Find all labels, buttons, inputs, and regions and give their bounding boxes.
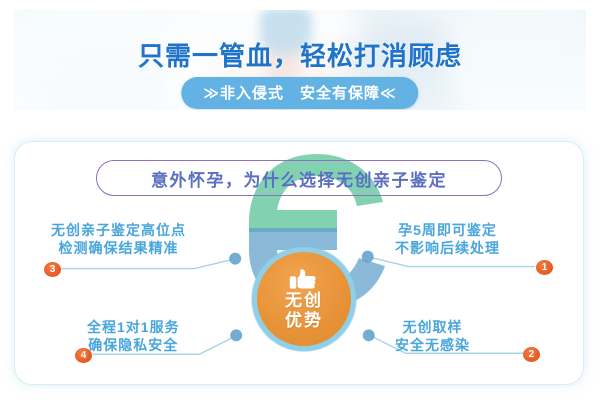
- banner-tagline-pill: ≫非入侵式 安全有保障≪: [181, 77, 418, 109]
- thumbs-up-icon: [289, 268, 319, 290]
- feature-line-2: 安全无感染: [395, 336, 470, 354]
- feature-top-right: 孕5周即可鉴定 不影响后续处理: [395, 221, 500, 258]
- center-advantage-circle: 无创 优势: [257, 252, 351, 346]
- feature-badge-3: 3: [44, 262, 61, 277]
- card-title-pill: 意外怀孕，为什么选择无创亲子鉴定: [96, 160, 502, 196]
- feature-bottom-left: 全程1对1服务 确保隐私安全: [87, 318, 180, 355]
- feature-badge-1: 1: [536, 260, 553, 275]
- feature-line-1: 无创取样: [395, 318, 470, 336]
- feature-top-left: 无创亲子鉴定高位点 检测确保结果精准: [51, 221, 186, 258]
- feature-bottom-right: 无创取样 安全无感染: [395, 318, 470, 355]
- center-line-1: 无创: [285, 291, 323, 310]
- feature-line-1: 全程1对1服务: [87, 318, 180, 336]
- feature-line-2: 不影响后续处理: [395, 239, 500, 257]
- feature-line-1: 无创亲子鉴定高位点: [51, 221, 186, 239]
- feature-line-1: 孕5周即可鉴定: [395, 221, 500, 239]
- feature-badge-4: 4: [75, 348, 92, 363]
- feature-line-2: 确保隐私安全: [87, 336, 180, 354]
- advantages-card: 意外怀孕，为什么选择无创亲子鉴定 无创亲子鉴定高位点 检测确保结果精准 3 孕5…: [14, 141, 584, 385]
- feature-line-2: 检测确保结果精准: [51, 239, 186, 257]
- card-title-text: 意外怀孕，为什么选择无创亲子鉴定: [151, 166, 447, 191]
- center-line-2: 优势: [285, 311, 323, 330]
- banner-headline: 只需一管血，轻松打消顾虑: [14, 36, 586, 73]
- hero-banner: 只需一管血，轻松打消顾虑 ≫非入侵式 安全有保障≪: [14, 10, 586, 110]
- center-text: 无创 优势: [285, 291, 323, 329]
- feature-badge-2: 2: [523, 347, 540, 362]
